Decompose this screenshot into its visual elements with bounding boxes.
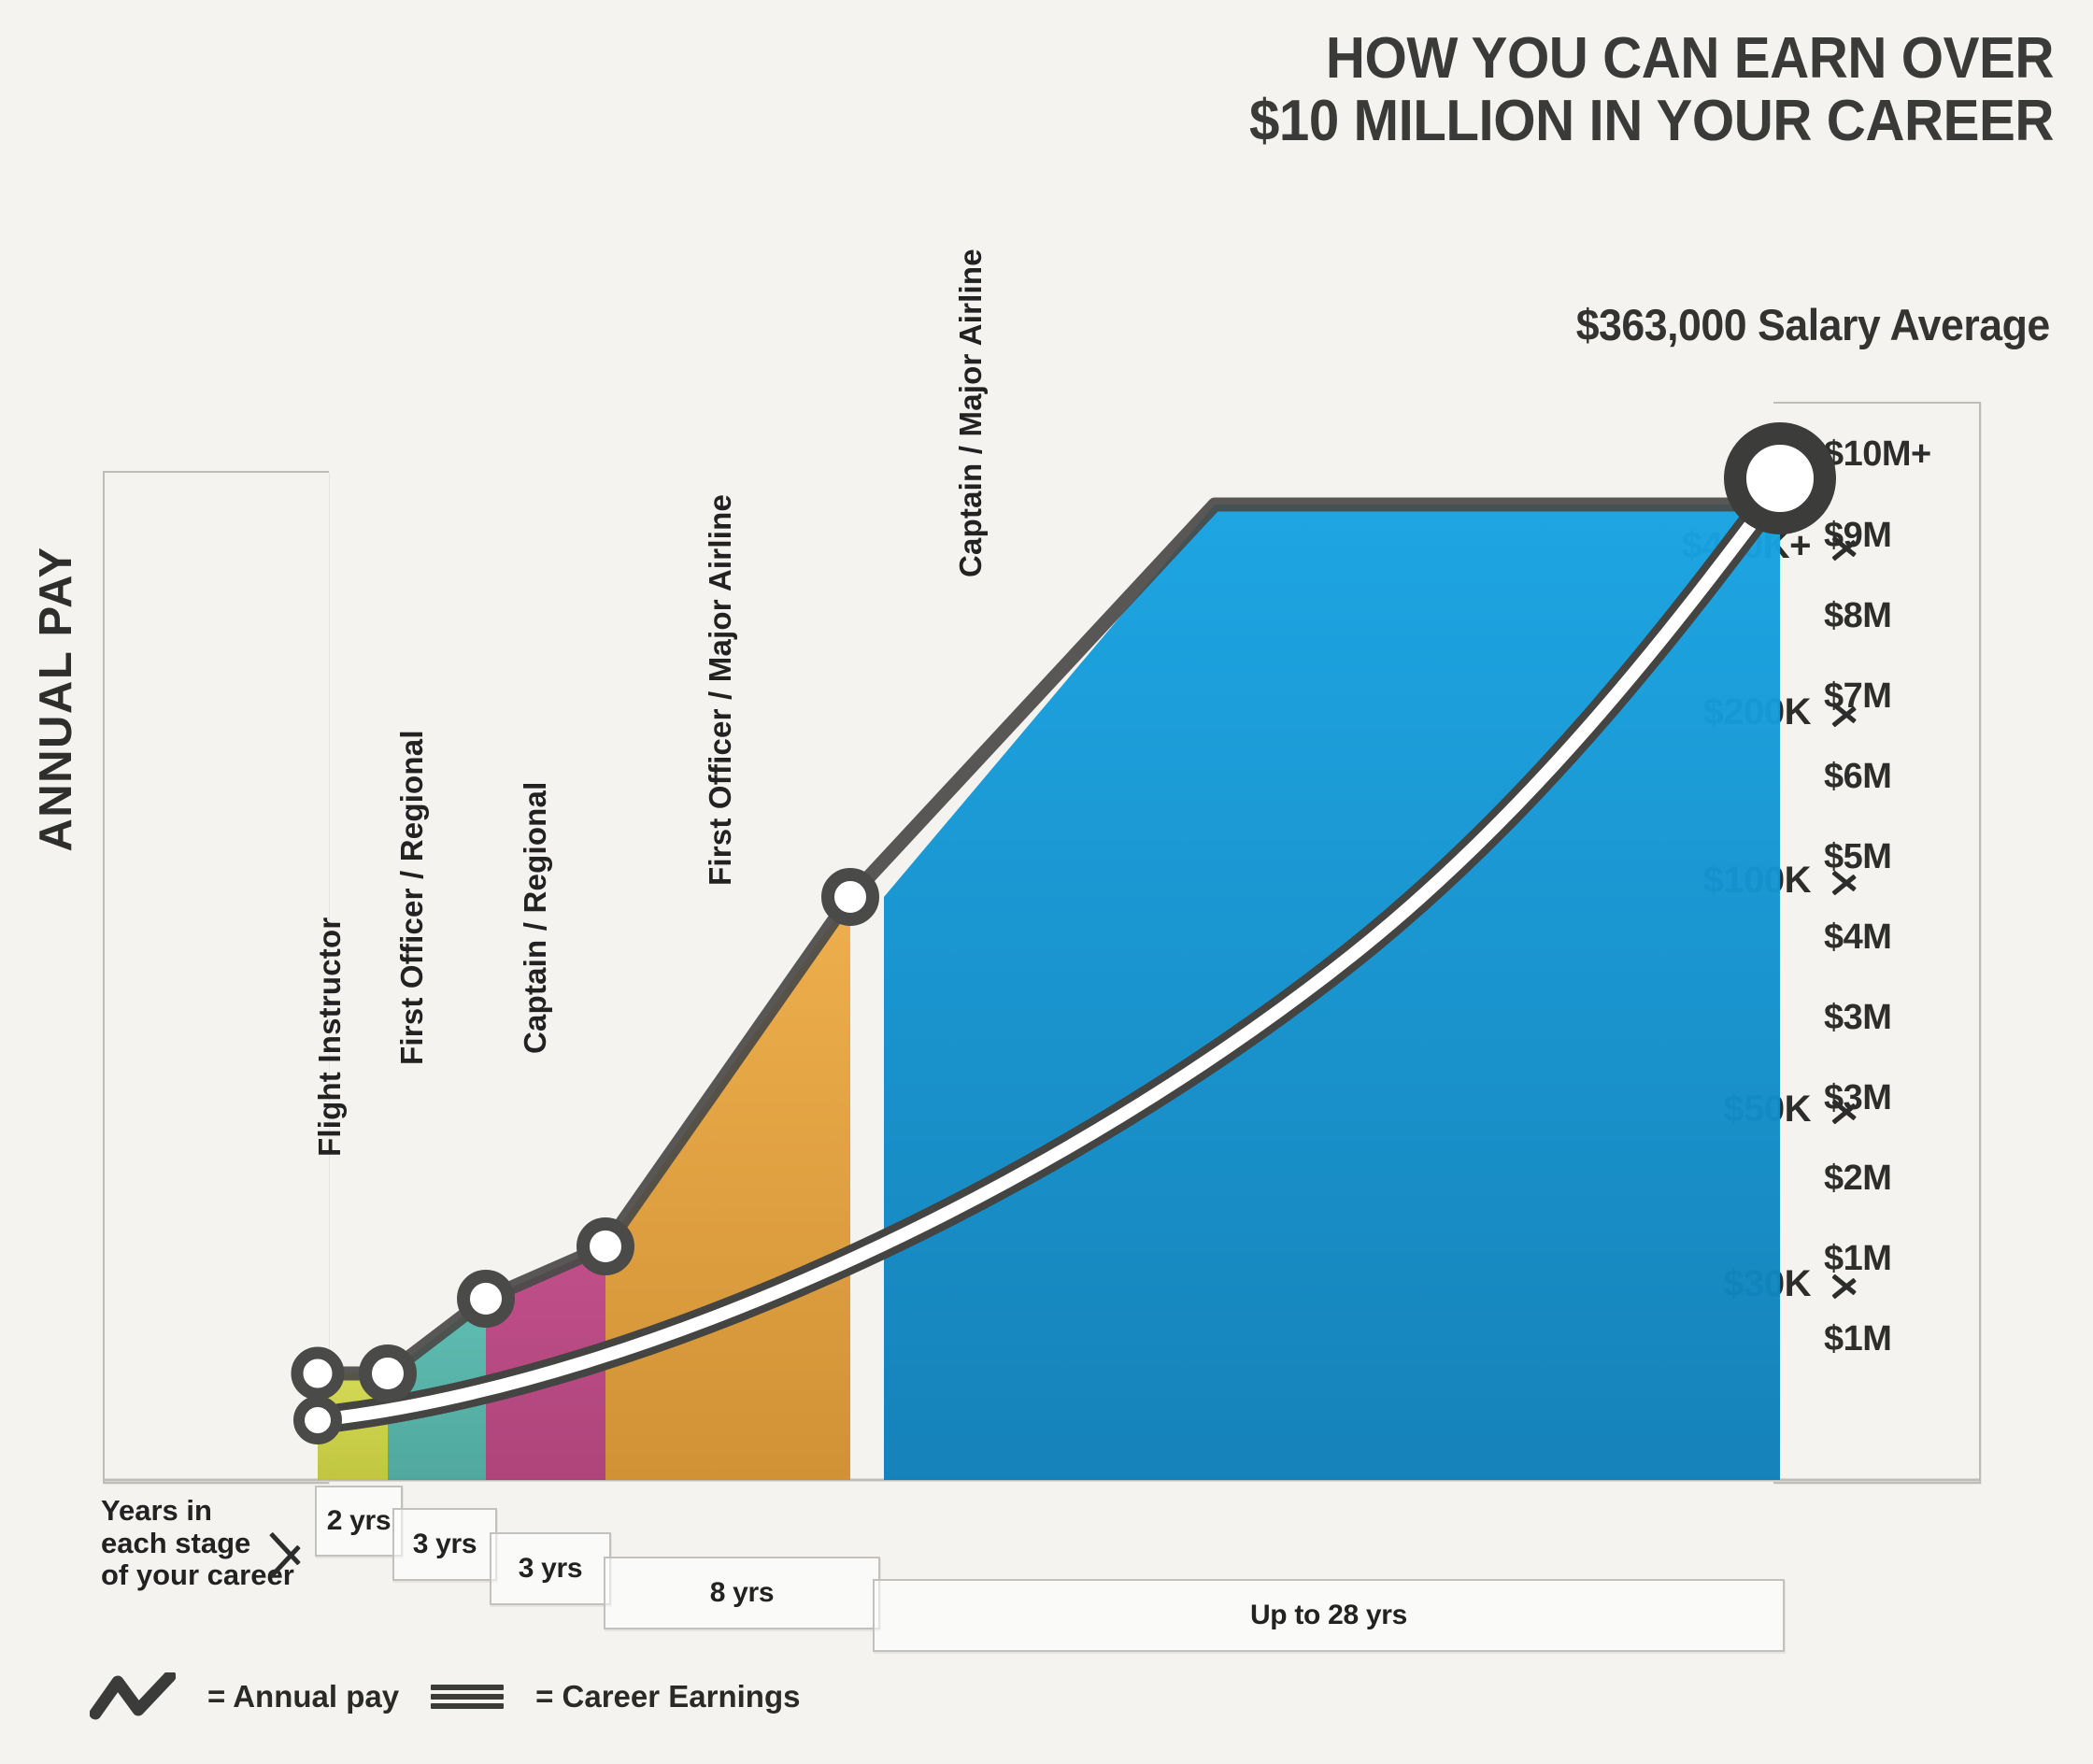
- years-box-flight-instructor: 2 yrs: [315, 1486, 403, 1557]
- stage-label-flight-instructor: Flight Instructor: [312, 918, 348, 1157]
- striped-line-icon: [431, 1685, 504, 1709]
- years-box-first-officer-regional: 3 yrs: [392, 1508, 497, 1581]
- years-caption-line-1: Years in: [101, 1495, 316, 1528]
- years-box-first-officer-major: 8 yrs: [604, 1557, 880, 1629]
- career-earnings-end-marker: [1735, 434, 1825, 523]
- career-earnings-start-marker: [299, 1401, 336, 1439]
- chart-legend: = Annual pay = Career Earnings: [90, 1672, 800, 1721]
- stage-label-first-officer-major: First Officer / Major Airline: [703, 494, 738, 886]
- stage-label-captain-major: Captain / Major Airline: [953, 249, 989, 577]
- infographic-canvas: HOW YOU CAN EARN OVER $10 MILLION IN YOU…: [0, 0, 2093, 1764]
- zigzag-line-icon: [90, 1672, 176, 1721]
- stage-label-first-officer-regional: First Officer / Regional: [394, 730, 430, 1065]
- stage-label-captain-regional: Captain / Regional: [518, 782, 553, 1054]
- legend-label-career-earnings: = Career Earnings: [535, 1679, 800, 1714]
- legend-label-annual-pay: = Annual pay: [207, 1679, 399, 1714]
- years-box-captain-regional: 3 yrs: [490, 1532, 611, 1605]
- years-box-captain-major: Up to 28 yrs: [873, 1579, 1785, 1652]
